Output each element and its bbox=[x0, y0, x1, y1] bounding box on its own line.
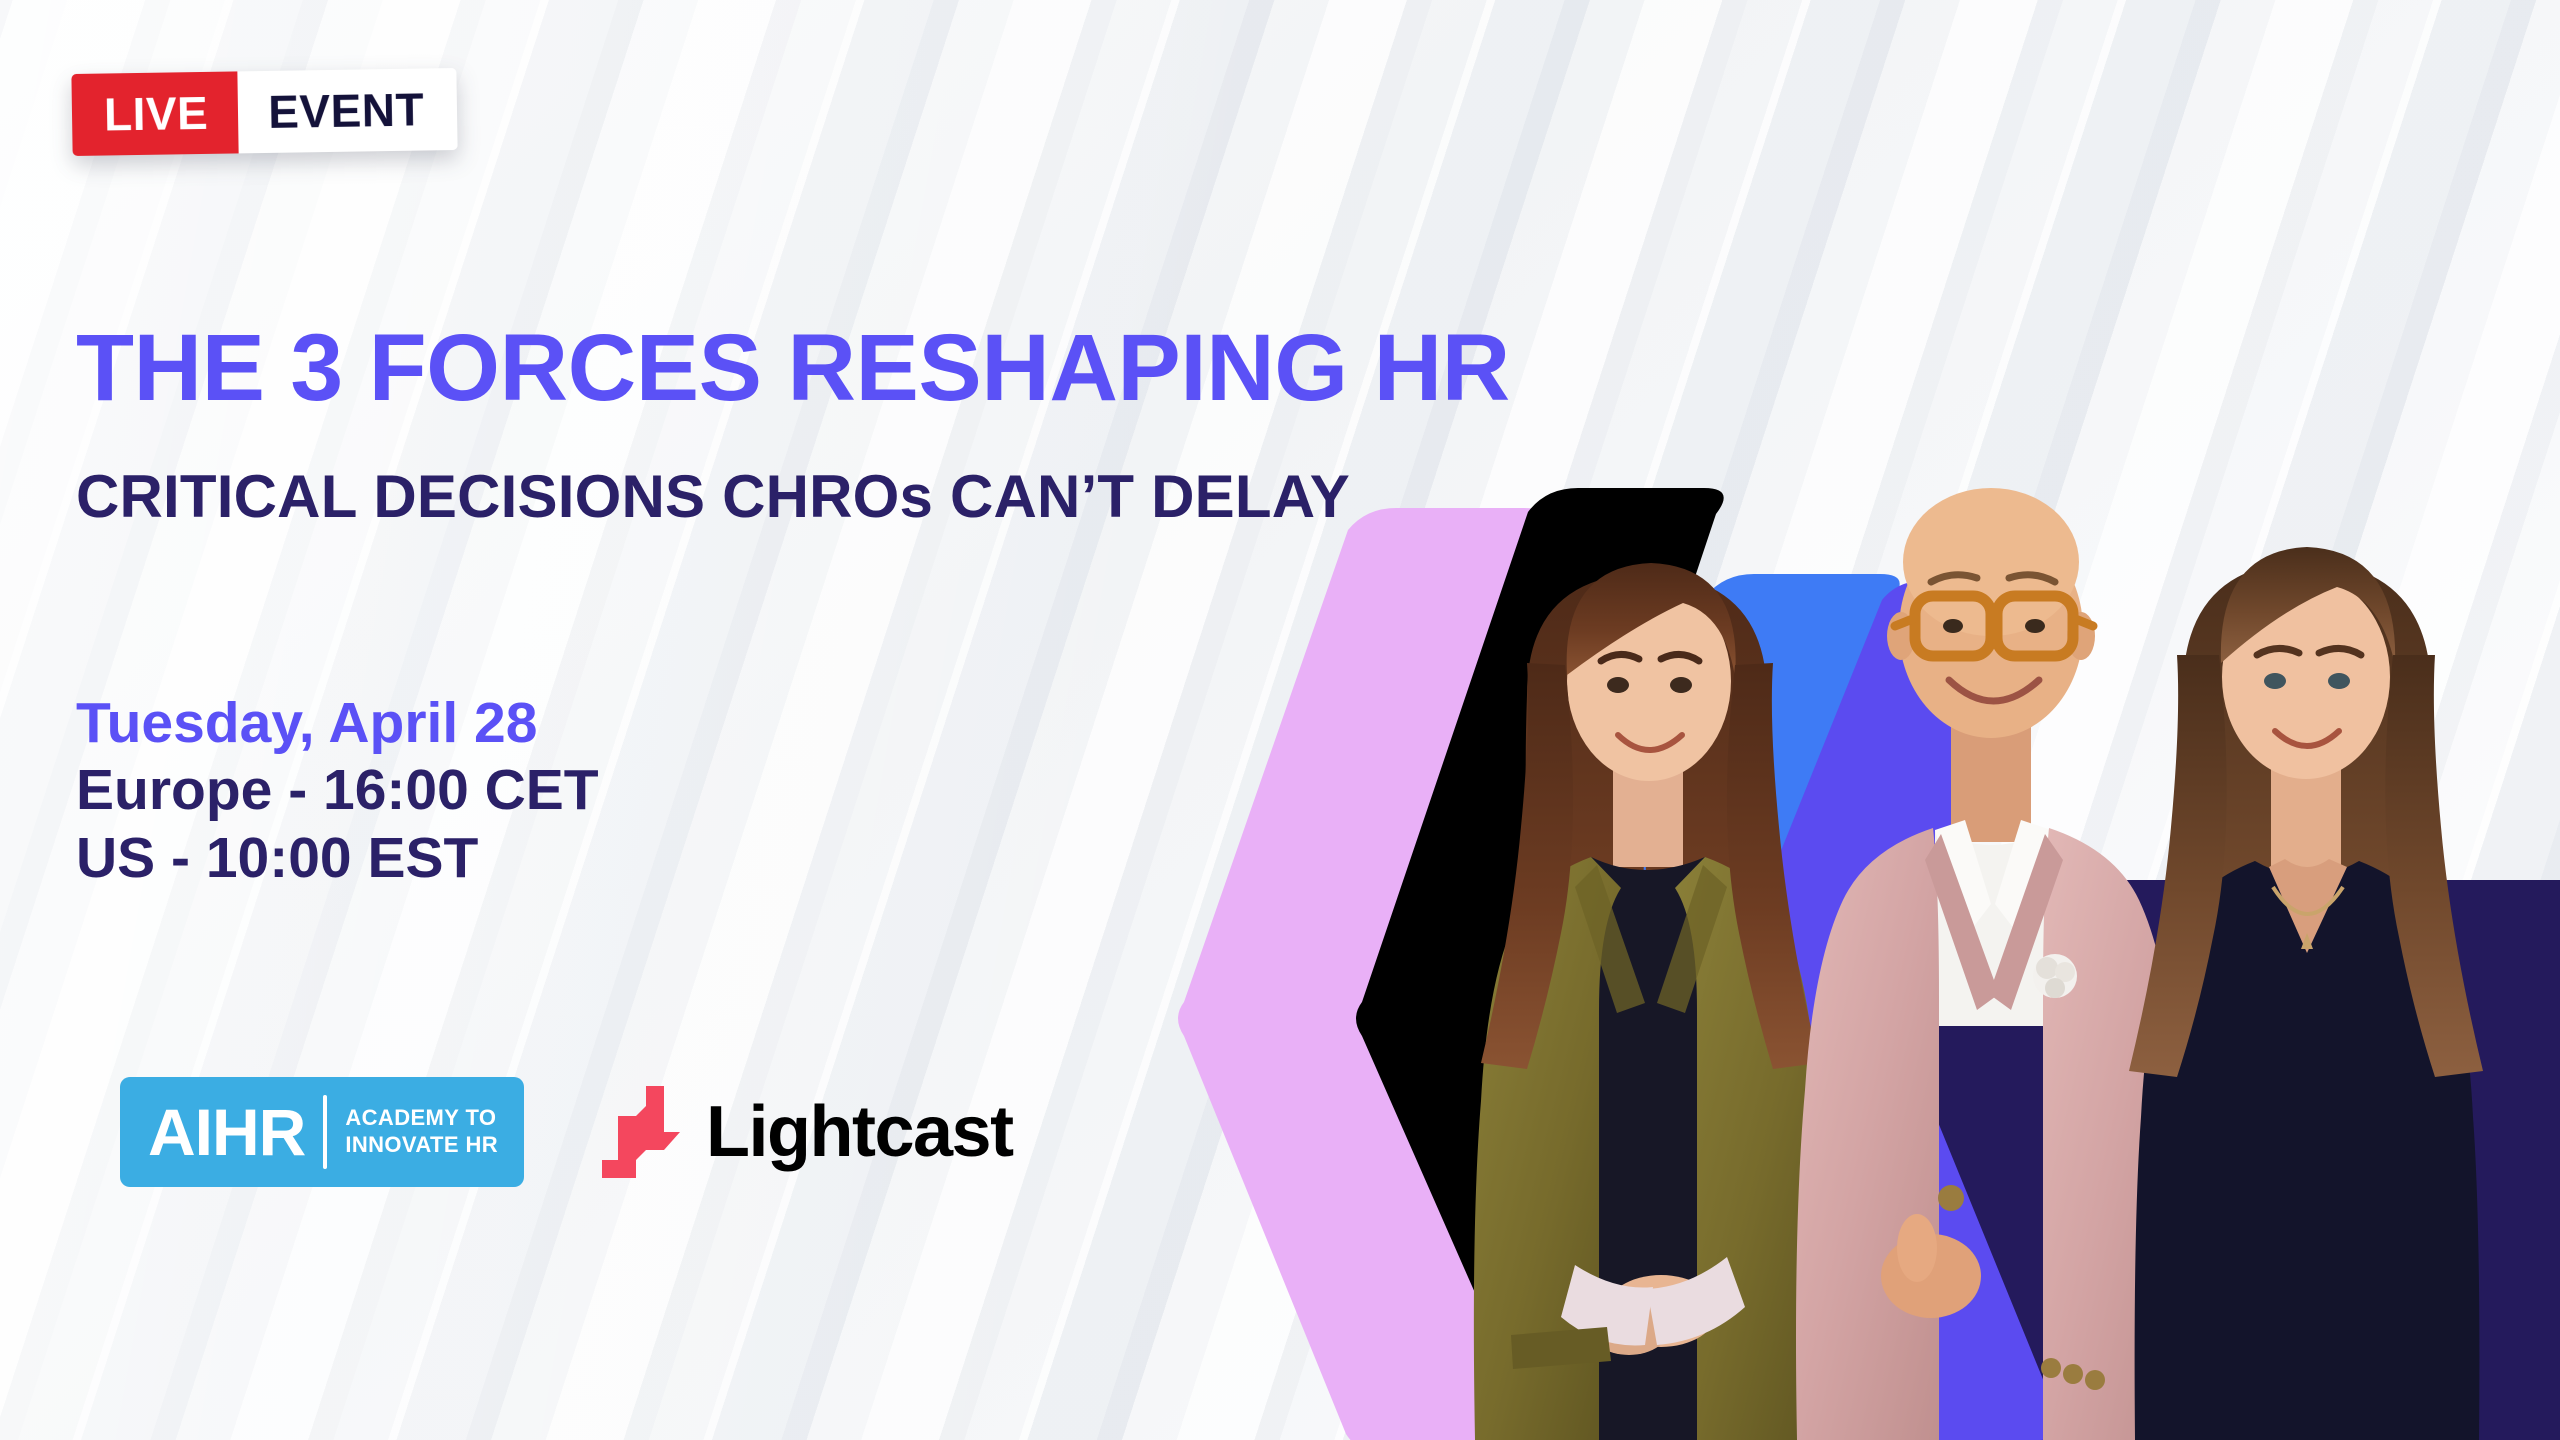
aihr-tagline-line1: ACADEMY TO bbox=[345, 1105, 498, 1132]
aihr-wordmark: AIHR bbox=[148, 1099, 305, 1165]
aihr-logo: AIHR ACADEMY TO INNOVATE HR bbox=[120, 1077, 524, 1187]
live-event-badge: LIVE EVENT bbox=[71, 68, 457, 156]
aihr-tagline: ACADEMY TO INNOVATE HR bbox=[345, 1105, 498, 1159]
event-date: Tuesday, April 28 bbox=[76, 690, 599, 757]
lightcast-mark-icon bbox=[602, 1086, 680, 1178]
badge-event-label: EVENT bbox=[238, 68, 458, 153]
logo-row: AIHR ACADEMY TO INNOVATE HR Lightcast bbox=[120, 1077, 1013, 1187]
event-time-us: US - 10:00 EST bbox=[76, 825, 599, 892]
page-subtitle: CRITICAL DECISIONS CHROs CAN’T DELAY bbox=[76, 467, 1350, 527]
badge-live-label: LIVE bbox=[71, 71, 239, 156]
speaker-photo-3 bbox=[2085, 495, 2525, 1440]
lapel-flower-pin bbox=[2033, 954, 2077, 998]
lightcast-logo: Lightcast bbox=[602, 1086, 1013, 1178]
speaker-photo-group bbox=[1140, 430, 2560, 1440]
event-time-europe: Europe - 16:00 CET bbox=[76, 757, 599, 824]
lightcast-wordmark: Lightcast bbox=[706, 1096, 1013, 1168]
page-title: THE 3 FORCES RESHAPING HR bbox=[76, 321, 1510, 416]
schedule-block: Tuesday, April 28 Europe - 16:00 CET US … bbox=[76, 690, 599, 892]
aihr-tagline-line2: INNOVATE HR bbox=[345, 1132, 498, 1159]
aihr-divider bbox=[323, 1095, 327, 1169]
promo-banner: LIVE EVENT THE 3 FORCES RESHAPING HR CRI… bbox=[0, 0, 2560, 1440]
